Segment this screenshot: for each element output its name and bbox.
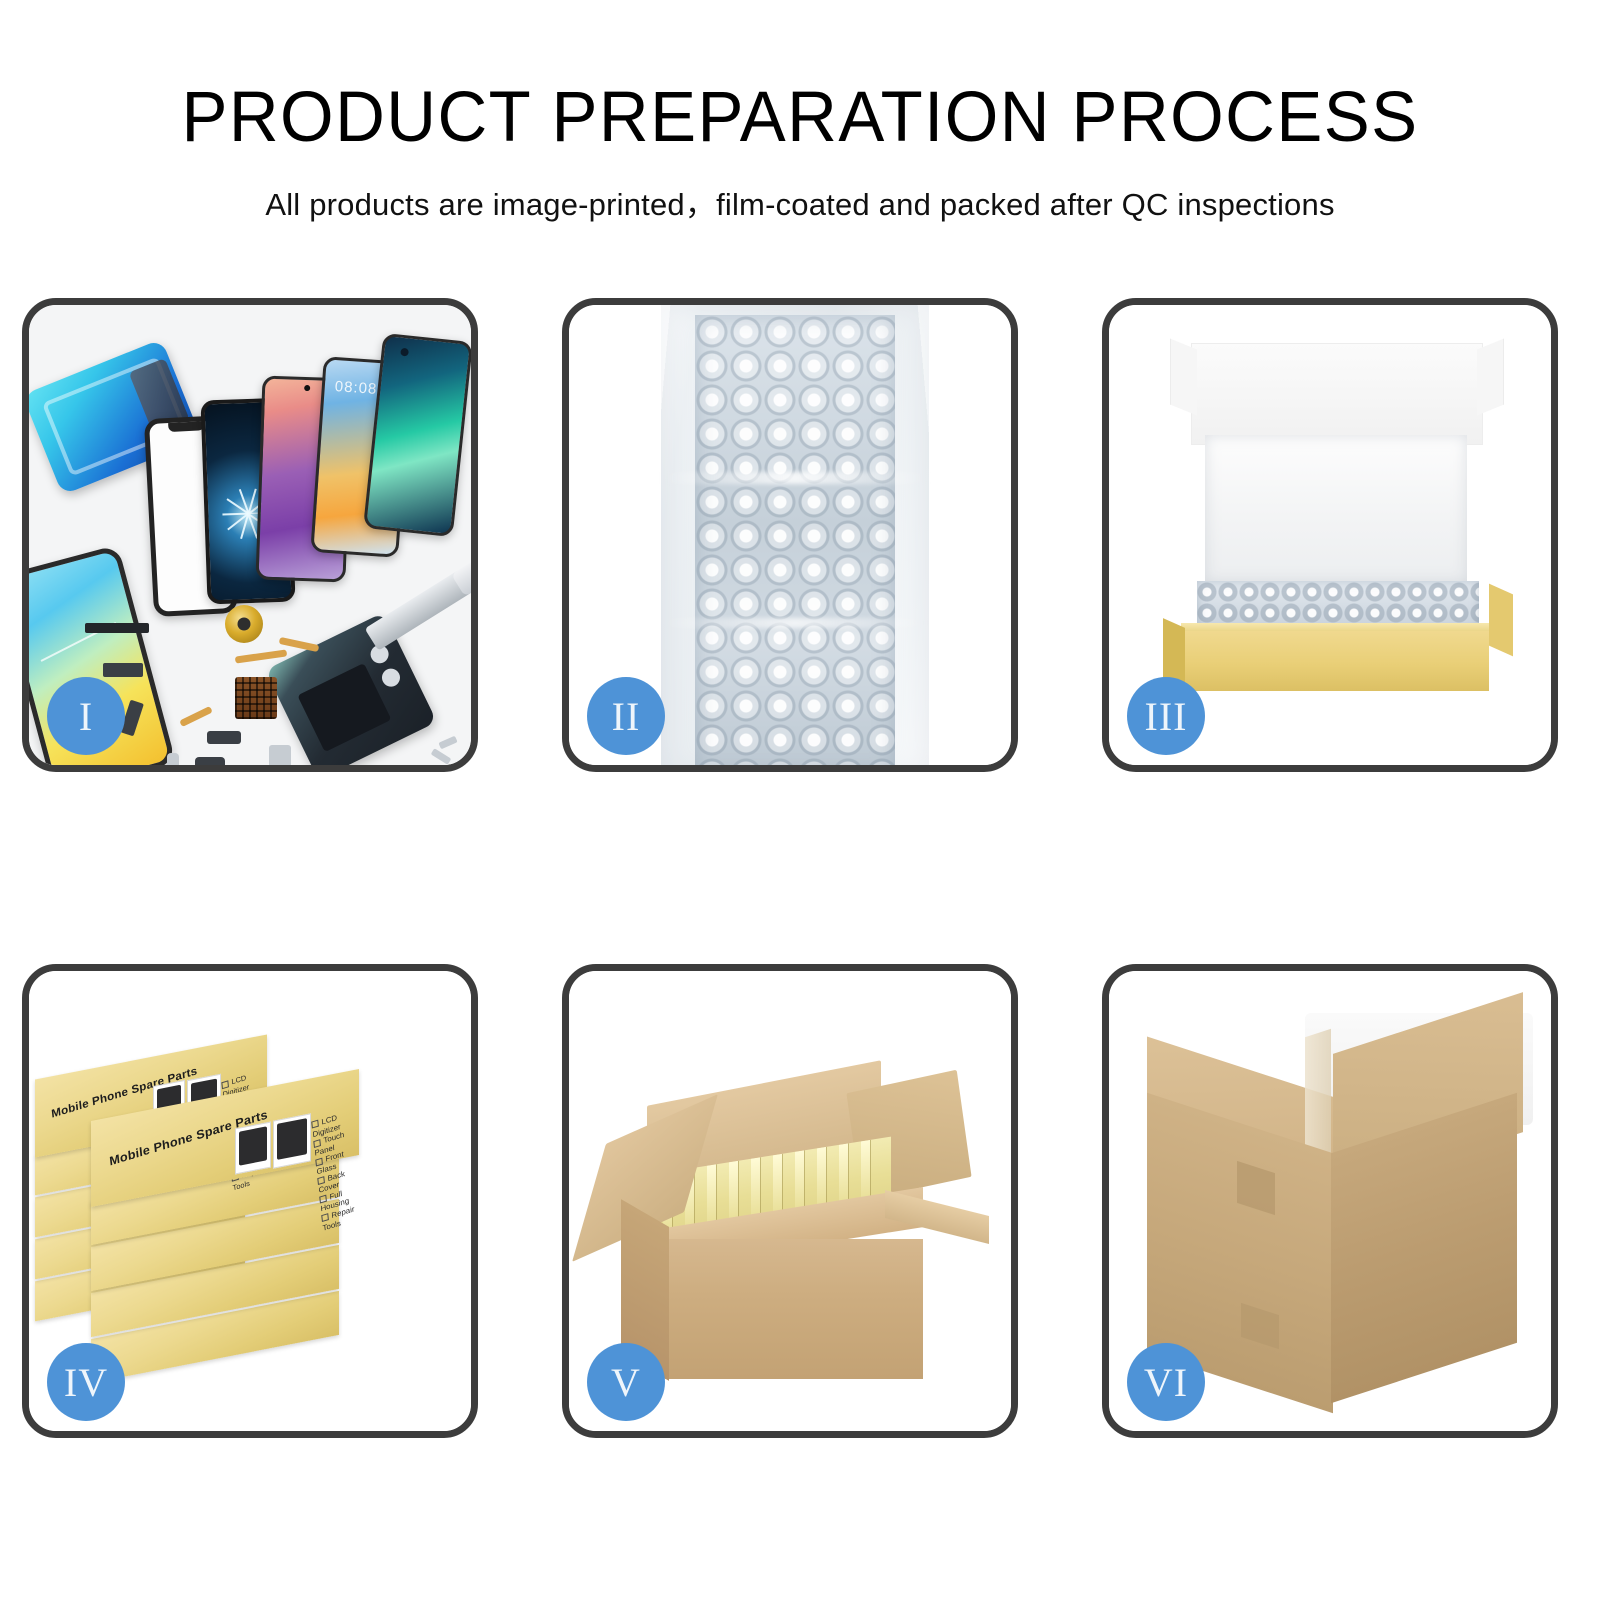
step-badge-1: I — [47, 677, 125, 755]
vibration-motor-part — [269, 745, 291, 765]
stacked-retail-boxes-image: Mobile Phone Spare Parts LCD Digitizer T… — [29, 971, 471, 1431]
flex-cable-1 — [235, 649, 287, 663]
mailer-box-lid — [1191, 343, 1483, 445]
pouch-seam — [661, 305, 929, 765]
carton-body — [665, 1239, 923, 1379]
bubble-wrap-pouch — [661, 305, 929, 765]
retail-box-photo-2b — [273, 1113, 311, 1168]
foam-insert — [1205, 435, 1467, 583]
wireless-charging-coil — [225, 605, 263, 643]
step-badge-3: III — [1127, 677, 1205, 755]
spare-parts-collage-image: 08:08 I — [29, 305, 471, 765]
phone-clock-label: 08:08 — [334, 378, 378, 398]
screw-part-1 — [431, 748, 452, 765]
speaker-mesh-part — [85, 623, 149, 633]
flex-cable-3 — [179, 706, 213, 727]
teal-screen-phone — [363, 333, 471, 537]
process-step-panel-1[interactable]: 08:08 I — [22, 298, 478, 772]
phone-back-housing — [265, 612, 437, 765]
pouch-glare-1 — [661, 472, 929, 484]
sealed-carton-image: VI — [1109, 971, 1551, 1431]
step-badge-2: II — [587, 677, 665, 755]
camera-module-part — [195, 757, 225, 765]
mailer-box-right-side — [1489, 584, 1513, 657]
pouch-glare-2 — [661, 618, 929, 628]
process-step-grid: 08:08 I — [0, 0, 1600, 1600]
screw-part-2 — [438, 736, 457, 750]
screwdriver-tool — [365, 569, 471, 650]
open-carton-image: V — [569, 971, 1011, 1431]
step-badge-6: VI — [1127, 1343, 1205, 1421]
sim-tray-part — [167, 753, 179, 765]
retail-box-photo-2a — [235, 1122, 271, 1175]
process-step-panel-3[interactable]: III — [1102, 298, 1558, 772]
open-mailer-box-image: III — [1109, 305, 1551, 765]
process-step-panel-4[interactable]: Mobile Phone Spare Parts LCD Digitizer T… — [22, 964, 478, 1438]
step-badge-4: IV — [47, 1343, 125, 1421]
bga-chip — [235, 677, 277, 719]
connector-part-1 — [103, 663, 143, 677]
step-badge-5: V — [587, 1343, 665, 1421]
retail-box-top-right: Mobile Phone Spare Parts LCD Digitizer T… — [91, 1095, 359, 1181]
mailer-box-front — [1181, 631, 1489, 691]
bubble-wrap-image: II — [569, 305, 1011, 765]
process-step-panel-6[interactable]: VI — [1102, 964, 1558, 1438]
process-step-panel-5[interactable]: V — [562, 964, 1018, 1438]
carton-front-right-flap — [885, 1190, 989, 1244]
ic-chip-part — [207, 731, 241, 744]
process-step-panel-2[interactable]: II — [562, 298, 1018, 772]
